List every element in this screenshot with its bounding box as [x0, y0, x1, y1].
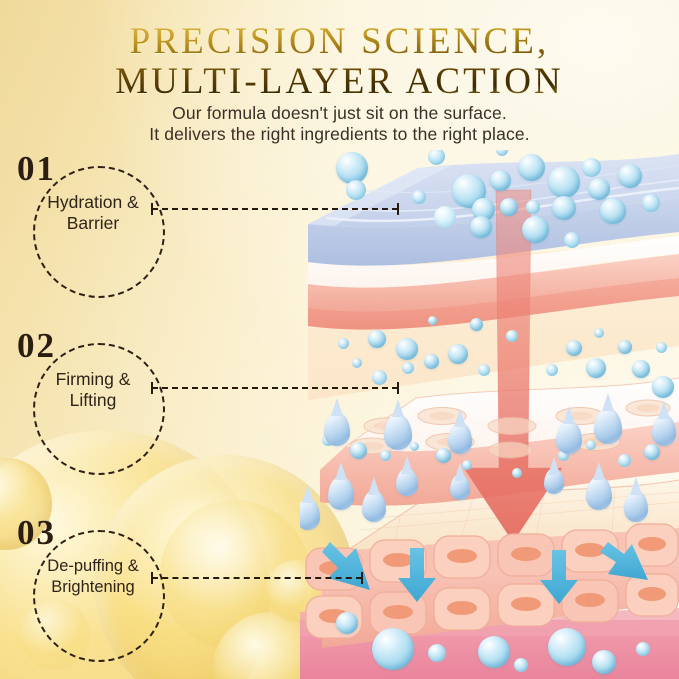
- water-droplet: [556, 420, 582, 454]
- surface-bubble: [346, 180, 366, 200]
- dermis-bubble: [512, 468, 522, 478]
- surface-bubble: [600, 198, 626, 224]
- surface-bubble: [336, 152, 368, 184]
- dermis-bubble: [478, 364, 490, 376]
- dermis-bubble: [436, 448, 451, 463]
- water-droplet: [328, 476, 354, 510]
- surface-bubble: [526, 200, 540, 214]
- dermis-bubble: [586, 358, 606, 378]
- dermis-bubble: [618, 340, 632, 354]
- callout-03[interactable]: 03 De-puffing & Brightening: [5, 512, 175, 672]
- callout-number: 01: [17, 150, 56, 188]
- connector-line-02: [146, 382, 404, 394]
- hypodermis-bubble: [636, 642, 650, 656]
- dermis-bubble: [396, 338, 418, 360]
- water-droplet: [362, 490, 386, 522]
- dermis-bubble: [352, 358, 362, 368]
- dermis-bubble: [338, 338, 349, 349]
- connector-cap-right: [397, 203, 399, 215]
- water-droplet: [324, 412, 350, 446]
- dermis-bubble: [644, 444, 660, 460]
- connector-cap-right: [361, 572, 363, 584]
- connector-dash: [152, 577, 362, 579]
- dermis-bubble: [632, 360, 650, 378]
- dermis-bubble: [470, 318, 483, 331]
- dermis-bubble: [594, 328, 604, 338]
- callout-02[interactable]: 02 Firming & Lifting: [5, 325, 175, 485]
- surface-bubble: [552, 196, 576, 220]
- dermis-bubble: [380, 450, 391, 461]
- dermis-bubble: [368, 330, 386, 348]
- dermis-bubble: [546, 364, 558, 376]
- dermis-bubble: [410, 442, 419, 451]
- water-droplet: [450, 474, 470, 500]
- surface-bubble: [518, 154, 545, 181]
- callout-01[interactable]: 01 Hydration & Barrier: [5, 148, 175, 308]
- connector-line-01: [146, 203, 404, 215]
- dermis-bubble: [424, 354, 439, 369]
- connector-line-03: [146, 572, 368, 584]
- dermis-bubble: [618, 454, 631, 467]
- dermis-bubble: [448, 344, 468, 364]
- dermis-bubble: [428, 316, 437, 325]
- water-droplet: [448, 422, 472, 454]
- connector-cap-right: [397, 382, 399, 394]
- hypodermis-bubble: [336, 612, 358, 634]
- dermis-bubble: [566, 340, 582, 356]
- dermis-bubble: [350, 442, 367, 459]
- dermis-bubble: [402, 362, 414, 374]
- water-droplet: [586, 476, 612, 510]
- hypodermis-bubble: [372, 628, 414, 670]
- dermis-bubble: [656, 342, 667, 353]
- water-droplet: [624, 490, 648, 522]
- surface-bubble: [500, 198, 518, 216]
- surface-bubble: [618, 164, 642, 188]
- surface-bubble: [642, 194, 660, 212]
- water-droplet: [594, 408, 622, 444]
- surface-bubble: [470, 216, 492, 238]
- water-droplet: [544, 468, 564, 494]
- surface-bubble: [522, 216, 549, 243]
- connector-dash: [152, 208, 398, 210]
- surface-bubble: [588, 178, 610, 200]
- hypodermis-bubble: [514, 658, 528, 672]
- skin-cross-section-illustration: [300, 150, 679, 679]
- surface-bubble: [582, 158, 601, 177]
- surface-bubble: [490, 170, 511, 191]
- surface-bubble: [434, 206, 456, 228]
- water-droplet: [396, 468, 418, 496]
- water-droplet: [652, 414, 676, 446]
- page-subtitle: Our formula doesn't just sit on the surf…: [0, 103, 679, 145]
- surface-bubble: [548, 166, 580, 198]
- hypodermis-bubble: [548, 628, 586, 666]
- surface-bubble: [412, 190, 426, 204]
- hypodermis-bubble: [428, 644, 446, 662]
- connector-dash: [152, 387, 398, 389]
- water-droplet: [384, 414, 412, 450]
- surface-bubble: [564, 232, 580, 248]
- hypodermis-bubble: [592, 650, 616, 674]
- dermis-bubble: [506, 330, 518, 342]
- page-title: PRECISION SCIENCE, MULTI-LAYER ACTION: [0, 22, 679, 102]
- callout-number: 03: [17, 514, 56, 552]
- hypodermis-bubble: [478, 636, 510, 668]
- infographic-canvas: PRECISION SCIENCE, MULTI-LAYER ACTION Ou…: [0, 0, 679, 679]
- callout-number: 02: [17, 327, 56, 365]
- dermis-bubble: [586, 440, 596, 450]
- dermis-bubble: [652, 376, 674, 398]
